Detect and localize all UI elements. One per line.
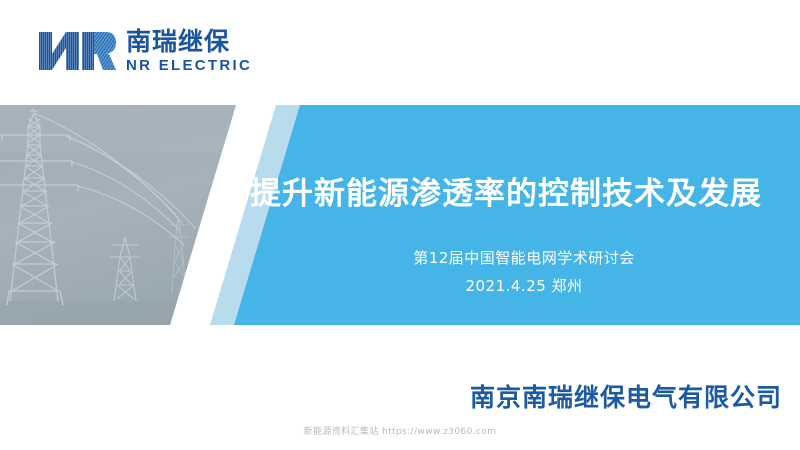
brand-name-en: NR ELECTRIC <box>126 58 252 73</box>
watermark-text: 新能源资料汇集站 https://www.z3060.com <box>0 424 800 437</box>
brand-name-cn: 南瑞继保 <box>126 29 252 54</box>
brand-logo-text: 南瑞继保 NR ELECTRIC <box>126 29 252 73</box>
nr-logo-mark-icon <box>38 28 116 74</box>
title-banner <box>0 105 800 325</box>
banner-graphic <box>0 105 800 325</box>
company-full-name: 南京南瑞继保电气有限公司 <box>0 378 782 414</box>
brand-logo: 南瑞继保 NR ELECTRIC <box>38 28 252 74</box>
presentation-slide: 南瑞继保 NR ELECTRIC <box>0 0 800 450</box>
